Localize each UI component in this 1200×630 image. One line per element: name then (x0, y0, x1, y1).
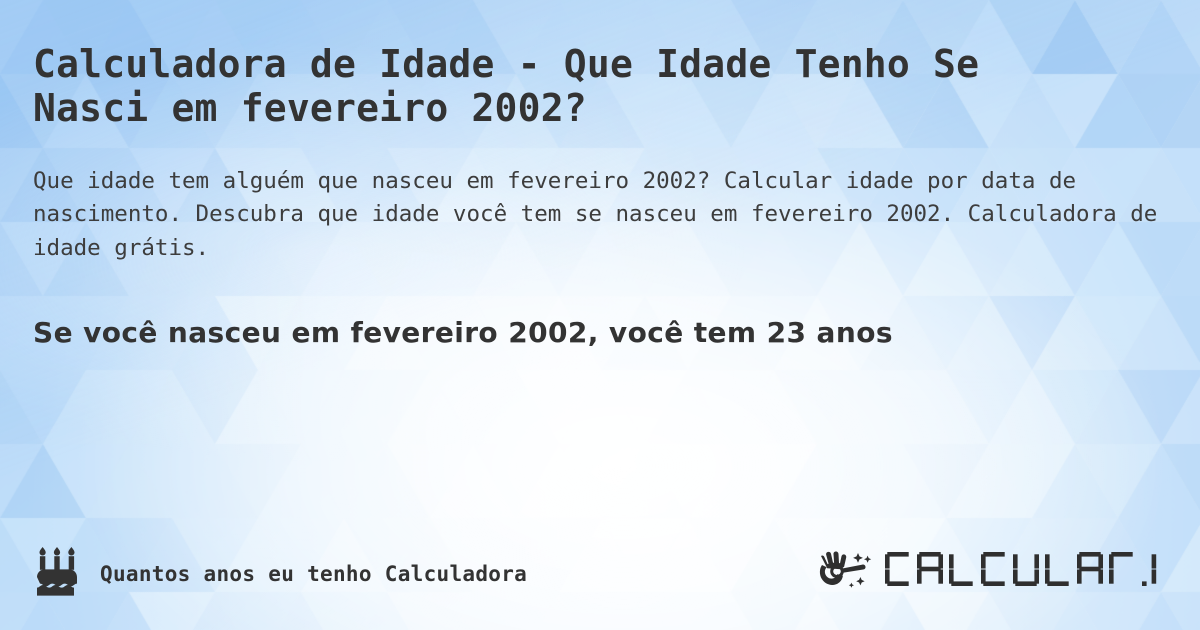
age-result-text: Se você nasceu em fevereiro 2002, você t… (33, 265, 1153, 353)
footer: Quantos anos eu tenho Calculadora (33, 546, 1167, 630)
footer-site-label: Quantos anos eu tenho Calculadora (100, 562, 527, 586)
layout-spacer (33, 353, 1167, 546)
page-container: Calculadora de Idade - Que Idade Tenho S… (0, 0, 1200, 630)
page-description: Que idade tem alguém que nasceu em fever… (33, 131, 1167, 265)
brand-wordmark (885, 552, 1167, 596)
birthday-cake-icon (33, 546, 81, 602)
brand-logo[interactable] (818, 549, 1167, 599)
page-title: Calculadora de Idade - Que Idade Tenho S… (33, 0, 1043, 131)
magic-wand-hand-icon (818, 549, 876, 599)
footer-brand-left[interactable]: Quantos anos eu tenho Calculadora (33, 546, 527, 602)
